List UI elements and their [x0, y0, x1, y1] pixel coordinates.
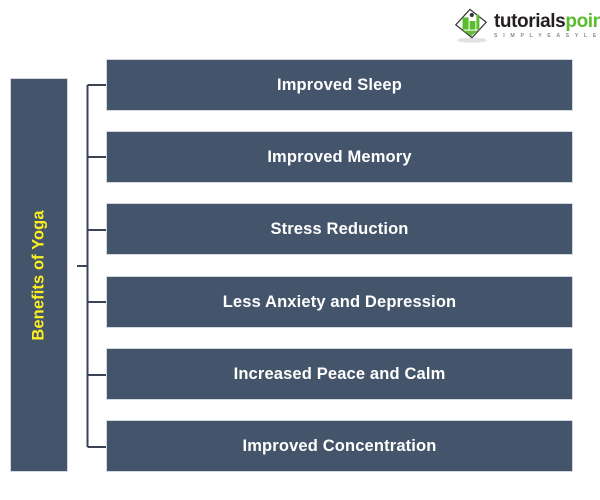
brand-logo: tutorialspoint S I M P L Y E A S Y L E A…	[452, 6, 594, 46]
branch-node-label: Less Anxiety and Depression	[223, 293, 457, 312]
tutorialspoint-diamond-logo-icon	[452, 7, 490, 45]
branch-node-label: Improved Memory	[267, 148, 411, 167]
branch-node-label: Improved Sleep	[277, 76, 402, 95]
branch-node-improved-sleep: Improved Sleep	[106, 59, 573, 111]
brand-tagline: S I M P L Y E A S Y L E A R N I N G	[494, 34, 600, 39]
branch-node-increased-peace-and-calm: Increased Peace and Calm	[106, 348, 573, 400]
branch-node-improved-memory: Improved Memory	[106, 131, 573, 183]
connector-tree	[68, 55, 108, 495]
branch-node-label: Stress Reduction	[270, 220, 408, 239]
branch-node-stress-reduction: Stress Reduction	[106, 203, 573, 255]
branch-node-less-anxiety-and-depression: Less Anxiety and Depression	[106, 276, 573, 328]
branch-node-label: Improved Concentration	[243, 437, 437, 456]
brand-name-secondary: point	[565, 11, 600, 32]
branch-node-improved-concentration: Improved Concentration	[106, 420, 573, 472]
root-node-label: Benefits of Yoga	[30, 210, 49, 340]
root-node-benefits-of-yoga: Benefits of Yoga	[10, 78, 68, 472]
branch-node-label: Increased Peace and Calm	[234, 365, 446, 384]
brand-wordmark: tutorialspoint S I M P L Y E A S Y L E A…	[494, 12, 600, 39]
branch-node-list: Improved Sleep Improved Memory Stress Re…	[106, 59, 573, 472]
brand-name-primary: tutorials	[494, 11, 565, 32]
